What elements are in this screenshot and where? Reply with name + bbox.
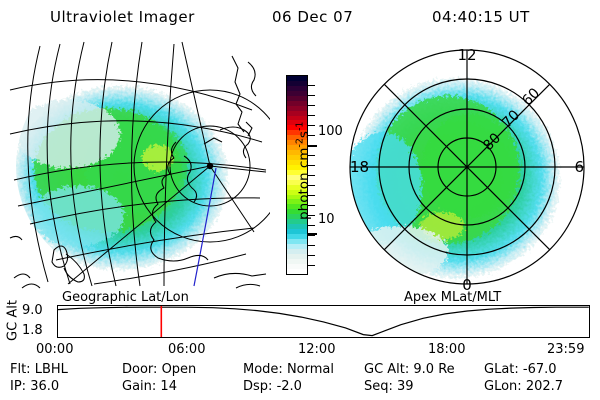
gc-alt-axis-label: GC Alt <box>4 300 22 344</box>
status-block: Flt: LBHL Door: Open Mode: Normal GC Alt… <box>0 362 600 396</box>
status-row-2: IP: 36.0 Gain: 14 Dsp: -2.0 Seq: 39 GLon… <box>0 379 600 396</box>
apex-polar-panel[interactable]: 12 6 0 18 60 70 80 <box>338 38 596 296</box>
colorbar-unit-exp1: -2 <box>294 138 305 147</box>
geographic-image-panel[interactable] <box>8 38 270 290</box>
status-door: Door: Open <box>122 362 196 377</box>
colorbar-band-39 <box>287 269 307 274</box>
instrument-title: Ultraviolet Imager <box>50 8 195 26</box>
colorbar-unit-exp2: -1 <box>294 122 305 131</box>
gc-alt-time-series[interactable] <box>57 305 590 338</box>
mlt-label-12: 12 <box>457 46 476 64</box>
status-seq: Seq: 39 <box>364 379 414 394</box>
auroral-emission-apex <box>342 78 560 278</box>
status-row-1: Flt: LBHL Door: Open Mode: Normal GC Alt… <box>0 362 600 379</box>
colorbar: 100 10 photon cm-2s-1 <box>268 60 338 295</box>
time-tick-1: 06:00 <box>168 342 205 357</box>
colorbar-unit-s: s <box>296 131 312 138</box>
colorbar-unit-photon: photon cm <box>296 148 312 220</box>
status-glon: GLon: 202.7 <box>484 379 563 394</box>
status-dsp: Dsp: -2.0 <box>243 379 302 394</box>
status-gain: Gain: 14 <box>122 379 177 394</box>
apex-polar-grid <box>350 50 584 284</box>
status-flt: Flt: LBHL <box>10 362 68 377</box>
time-tick-2: 12:00 <box>298 342 335 357</box>
status-ip: IP: 36.0 <box>10 379 59 394</box>
status-gc-alt: GC Alt: 9.0 Re <box>364 362 455 377</box>
header-bar: Ultraviolet Imager 06 Dec 07 04:40:15 UT <box>0 8 600 30</box>
colorbar-axis-label: photon cm-2s-1 <box>294 76 312 266</box>
colorbar-label-10: 10 <box>318 212 335 227</box>
status-mode: Mode: Normal <box>243 362 334 377</box>
time-tick-0: 00:00 <box>36 342 73 357</box>
mlt-label-18: 18 <box>350 158 369 176</box>
time-tick-3: 18:00 <box>428 342 465 357</box>
altitude-trace-line <box>58 307 589 335</box>
mlt-label-6: 6 <box>574 158 584 176</box>
status-glat: GLat: -67.0 <box>484 362 557 377</box>
observation-date: 06 Dec 07 <box>272 8 353 26</box>
observation-time: 04:40:15 UT <box>432 8 530 26</box>
time-tick-4: 23:59 <box>547 342 584 357</box>
